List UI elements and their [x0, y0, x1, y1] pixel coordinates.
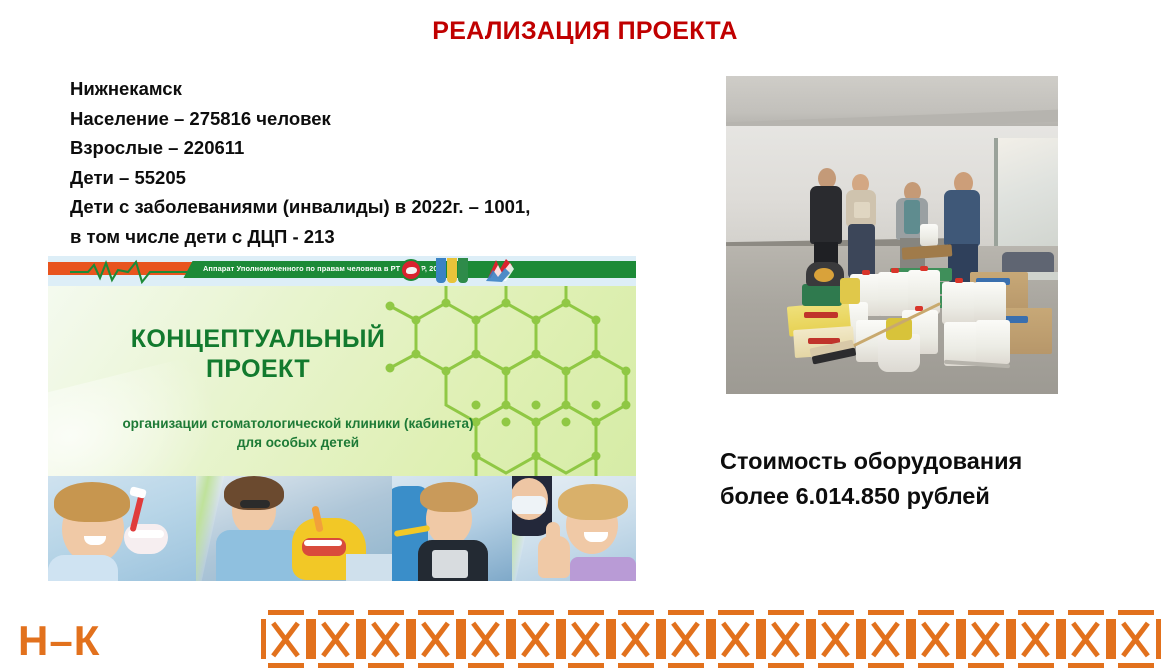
- x-pattern-stroke: [711, 619, 716, 659]
- x-pattern-stroke: [661, 619, 666, 659]
- x-pattern-stroke: [368, 610, 404, 615]
- x-pattern-stroke: [318, 610, 354, 615]
- x-pattern-stroke: [311, 619, 316, 659]
- footer-x-pattern-strip: [261, 608, 1161, 670]
- x-pattern-stroke: [968, 610, 1004, 615]
- x-pattern-stroke: [968, 663, 1004, 668]
- x-pattern-stroke: [368, 663, 404, 668]
- x-pattern-cell: [411, 608, 461, 670]
- x-pattern-stroke: [568, 610, 604, 615]
- x-pattern-cell: [1011, 608, 1061, 670]
- x-pattern-stroke: [818, 663, 854, 668]
- x-pattern-stroke: [911, 619, 916, 659]
- x-pattern-cell: [461, 608, 511, 670]
- x-pattern-stroke: [611, 619, 616, 659]
- x-pattern-stroke: [618, 663, 654, 668]
- x-pattern-stroke: [468, 663, 504, 668]
- photo-tool-case: [802, 284, 842, 306]
- x-pattern-cell: [1061, 608, 1111, 670]
- stats-line-population: Население – 275816 человек: [70, 104, 670, 134]
- x-pattern-cell: [961, 608, 1011, 670]
- equipment-cost-caption: Стоимость оборудования более 6.014.850 р…: [720, 444, 1140, 514]
- slide-canvas: РЕАЛИЗАЦИЯ ПРОЕКТА Нижнекамск Население …: [0, 0, 1170, 671]
- x-pattern-stroke: [261, 619, 266, 659]
- x-pattern-stroke: [918, 610, 954, 615]
- x-pattern-stroke: [418, 610, 454, 615]
- stats-line-city: Нижнекамск: [70, 74, 670, 104]
- x-pattern-stroke: [511, 619, 516, 659]
- x-pattern-cell: [611, 608, 661, 670]
- tatarstan-coat-of-arms-icon: [400, 259, 422, 281]
- x-pattern-stroke: [918, 663, 954, 668]
- x-pattern-stroke: [768, 610, 804, 615]
- x-pattern-stroke: [761, 619, 766, 659]
- x-pattern-stroke: [868, 663, 904, 668]
- x-pattern-stroke: [461, 619, 466, 659]
- x-pattern-stroke: [718, 610, 754, 615]
- renovation-room-photo: [726, 76, 1058, 394]
- poster-subtitle-line2: для особых детей: [48, 433, 548, 452]
- photo-canister-10: [976, 320, 1010, 364]
- stats-line-cerebral-palsy: в том числе дети с ДЦП - 213: [70, 222, 670, 252]
- x-pattern-stroke: [861, 619, 866, 659]
- poster-photo-dentist-with-toy-dinosaur: [196, 476, 392, 581]
- x-pattern-stroke: [668, 663, 704, 668]
- poster-subtitle: организации стоматологической клиники (к…: [48, 414, 548, 452]
- poster-subtitle-line1: организации стоматологической клиники (к…: [48, 414, 548, 433]
- stats-line-adults: Взрослые – 220611: [70, 133, 670, 163]
- x-pattern-stroke: [1111, 619, 1116, 659]
- x-pattern-stroke: [1068, 663, 1104, 668]
- x-pattern-cell: [711, 608, 761, 670]
- x-pattern-stroke: [1018, 663, 1054, 668]
- x-pattern-cell: [761, 608, 811, 670]
- poster-title: КОНЦЕПТУАЛЬНЫЙ ПРОЕКТ: [48, 324, 468, 384]
- poster-header-band: Аппарат Уполномоченного по правам челове…: [48, 256, 636, 286]
- page-title: РЕАЛИЗАЦИЯ ПРОЕКТА: [0, 17, 1170, 46]
- nizhnekamsk-logo: Н–К: [18, 617, 100, 665]
- x-pattern-cell: [261, 608, 311, 670]
- x-pattern-stroke: [1118, 610, 1154, 615]
- x-pattern-cell: [861, 608, 911, 670]
- x-pattern-stroke: [768, 663, 804, 668]
- x-pattern-cell: [561, 608, 611, 670]
- x-pattern-stroke: [818, 610, 854, 615]
- x-pattern-cell: [661, 608, 711, 670]
- x-pattern-stroke: [1068, 610, 1104, 615]
- x-pattern-stroke: [1061, 619, 1066, 659]
- poster-title-line1: КОНЦЕПТУАЛЬНЫЙ: [48, 324, 468, 354]
- photo-yellow-container: [840, 278, 860, 304]
- photo-canister-small: [920, 224, 938, 246]
- x-pattern-stroke: [318, 663, 354, 668]
- x-pattern-cell: [361, 608, 411, 670]
- statistics-block: Нижнекамск Население – 275816 человек Вз…: [70, 74, 670, 251]
- x-pattern-stroke: [268, 610, 304, 615]
- x-pattern-stroke: [361, 619, 366, 659]
- poster-body: КОНЦЕПТУАЛЬНЫЙ ПРОЕКТ организации стомат…: [48, 286, 636, 476]
- x-pattern-stroke: [1018, 610, 1054, 615]
- cost-line1: Стоимость оборудования: [720, 444, 1140, 479]
- poster-photo-girl-thumbs-up: [512, 476, 636, 581]
- x-pattern-stroke: [518, 610, 554, 615]
- x-pattern-stroke: [961, 619, 966, 659]
- x-pattern-stroke: [868, 610, 904, 615]
- stats-line-children: Дети – 55205: [70, 163, 670, 193]
- x-pattern-stroke: [268, 663, 304, 668]
- photo-saw-blade: [814, 268, 834, 282]
- photo-window-frame: [994, 138, 1058, 258]
- project-flag-logo-icon: [484, 257, 516, 283]
- photo-canister-7: [942, 282, 976, 324]
- x-pattern-stroke: [811, 619, 816, 659]
- poster-title-line2: ПРОЕКТ: [48, 354, 468, 384]
- poster-photo-child-with-denture-model: [48, 476, 196, 581]
- x-pattern-cell: [311, 608, 361, 670]
- x-pattern-cell: [1111, 608, 1161, 670]
- poster-photo-boy-brushing-toy-teeth: [392, 476, 512, 581]
- x-pattern-cell: [811, 608, 861, 670]
- x-pattern-stroke: [668, 610, 704, 615]
- x-pattern-stroke: [1011, 619, 1016, 659]
- x-pattern-stroke: [468, 610, 504, 615]
- photo-canister-9: [974, 282, 1006, 322]
- x-pattern-stroke: [518, 663, 554, 668]
- cost-line2: более 6.014.850 рублей: [720, 479, 1140, 514]
- x-pattern-cell: [911, 608, 961, 670]
- x-pattern-stroke: [568, 663, 604, 668]
- x-pattern-cell: [511, 608, 561, 670]
- stats-line-disabled-children: Дети с заболеваниями (инвалиды) в 2022г.…: [70, 192, 670, 222]
- x-pattern-stroke: [1118, 663, 1154, 668]
- poster-photo-strip: [48, 476, 636, 581]
- nizhnekamsk-coat-of-arms-icon: [436, 258, 470, 283]
- x-pattern-stroke: [561, 619, 566, 659]
- ecg-line-icon: [70, 258, 200, 284]
- x-pattern-stroke: [411, 619, 416, 659]
- x-pattern-stroke: [618, 610, 654, 615]
- x-pattern-stroke: [1156, 619, 1161, 659]
- photo-bag-label-1: [804, 312, 838, 318]
- concept-project-poster: Аппарат Уполномоченного по правам челове…: [48, 256, 636, 581]
- x-pattern-stroke: [718, 663, 754, 668]
- x-pattern-stroke: [418, 663, 454, 668]
